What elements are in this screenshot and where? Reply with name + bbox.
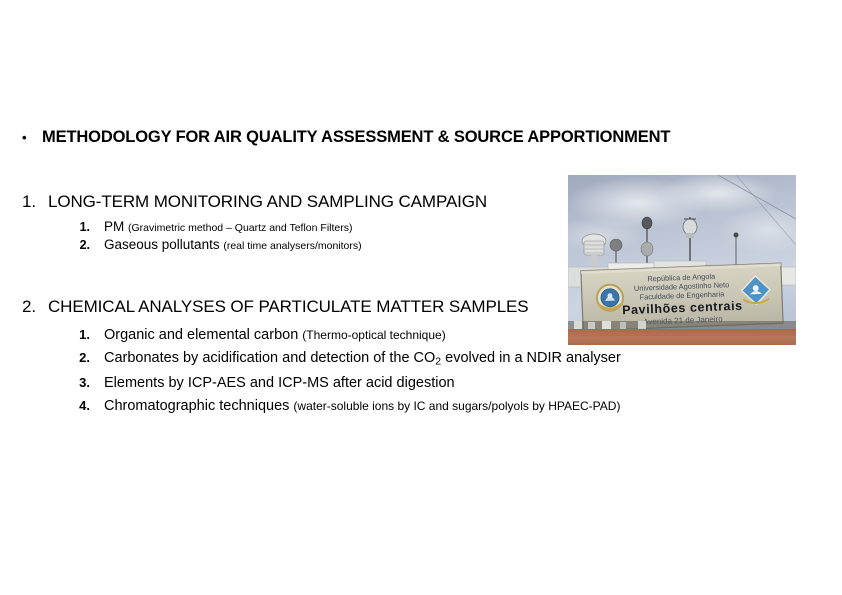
list-item-main: Gaseous pollutants — [104, 237, 223, 252]
list-item-main: Organic and elemental carbon — [104, 327, 302, 343]
page-title-text: METHODOLOGY FOR AIR QUALITY ASSESSMENT &… — [42, 128, 670, 147]
list-item-main-pre: Carbonates by acidification and detectio… — [104, 350, 435, 366]
list-item-text: Chromatographic techniques (water-solubl… — [104, 398, 620, 414]
bullet-icon: • — [22, 131, 42, 144]
slide-canvas: • METHODOLOGY FOR AIR QUALITY ASSESSMENT… — [0, 0, 842, 595]
list-item: 2. Carbonates by acidification and detec… — [70, 350, 722, 368]
section-2-heading-text: CHEMICAL ANALYSES OF PARTICULATE MATTER … — [48, 297, 529, 317]
list-item-number: 2. — [70, 238, 104, 252]
list-item-text: Elements by ICP-AES and ICP-MS after aci… — [104, 375, 455, 391]
list-item-paren: (Thermo-optical technique) — [302, 328, 445, 342]
list-item-main: PM — [104, 219, 128, 234]
angola-emblem — [596, 284, 623, 311]
section-2-number: 2. — [22, 297, 48, 317]
list-item-main-post: evolved in a NDIR analyser — [441, 350, 621, 366]
list-item-paren: (Gravimetric method – Quartz and Teflon … — [128, 222, 352, 234]
photo-illustration: República de Angola Universidade Agostin… — [568, 175, 796, 345]
list-item-number: 3. — [70, 375, 104, 390]
list-item-main: Chromatographic techniques — [104, 398, 293, 414]
list-item-text: Gaseous pollutants (real time analysers/… — [104, 237, 362, 252]
list-item-number: 4. — [70, 398, 104, 413]
university-sign: República de Angola Universidade Agostin… — [581, 263, 783, 331]
list-item: 3. Elements by ICP-AES and ICP-MS after … — [70, 375, 722, 391]
list-item-text: Organic and elemental carbon (Thermo-opt… — [104, 327, 446, 343]
list-item-main: Elements by ICP-AES and ICP-MS after aci… — [104, 375, 455, 391]
list-item-paren: (water-soluble ions by IC and sugars/pol… — [293, 399, 620, 413]
page-title: • METHODOLOGY FOR AIR QUALITY ASSESSMENT… — [22, 128, 782, 147]
list-item-number: 1. — [70, 327, 104, 342]
list-item-text: PM (Gravimetric method – Quartz and Tefl… — [104, 219, 352, 234]
section-1-heading-text: LONG-TERM MONITORING AND SAMPLING CAMPAI… — [48, 192, 487, 212]
list-item-number: 2. — [70, 350, 104, 365]
list-item-number: 1. — [70, 220, 104, 234]
list-item-paren: (real time analysers/monitors) — [223, 240, 361, 252]
list-item: 4. Chromatographic techniques (water-sol… — [70, 398, 722, 414]
section-1-number: 1. — [22, 192, 48, 212]
list-item-text: Carbonates by acidification and detectio… — [104, 350, 621, 368]
air-quality-monitoring-station-photo: República de Angola Universidade Agostin… — [568, 175, 796, 345]
